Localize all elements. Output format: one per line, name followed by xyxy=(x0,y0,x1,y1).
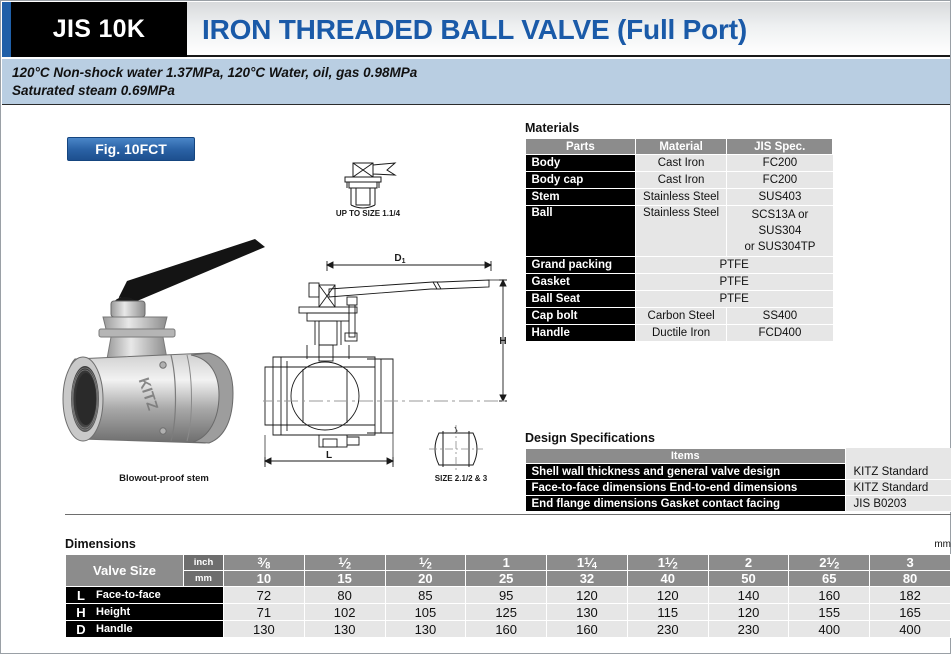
unit-row-mm: mm xyxy=(184,571,224,587)
size-inch-7: 21⁄2 xyxy=(789,555,870,571)
material-name: Carbon Steel xyxy=(635,308,727,325)
materials-header-row: Parts Material JIS Spec. xyxy=(526,139,833,155)
ratings-band: 120°C Non-shock water 1.37MPa, 120°C Wat… xyxy=(2,59,950,105)
material-name: Stainless Steel xyxy=(635,189,727,206)
table-row: Handle Ductile Iron FCD400 xyxy=(526,325,833,342)
material-part: Cap bolt xyxy=(526,308,636,325)
handle-section-drawing xyxy=(421,425,491,473)
dimension-value: 105 xyxy=(385,604,466,621)
material-spec: SUS403 xyxy=(727,189,833,206)
dimension-value: 125 xyxy=(466,604,547,621)
material-spec: FC200 xyxy=(727,172,833,189)
dimension-name: Face-to-face xyxy=(96,589,161,601)
dimension-value: 71 xyxy=(224,604,305,621)
material-part: Handle xyxy=(526,325,636,342)
dimension-value: 120 xyxy=(708,604,789,621)
dimension-symbol: H xyxy=(66,605,96,620)
dimension-symbol: L xyxy=(66,588,96,603)
size-inch-6: 2 xyxy=(708,555,789,571)
figure-badge: Fig. 10FCT xyxy=(67,137,195,161)
design-spec-standard: KITZ Standard xyxy=(845,480,950,496)
dimension-label-l: L xyxy=(326,450,332,461)
dimension-value: 230 xyxy=(627,621,708,638)
size-inch-2: 1⁄2 xyxy=(385,555,466,571)
table-row: L Face-to-face 72 80 85 95 120 120 140 1… xyxy=(66,587,951,604)
design-specs-section: Design Specifications Items Shell wall t… xyxy=(525,431,951,512)
size-mm-2: 20 xyxy=(385,571,466,587)
page-title: IRON THREADED BALL VALVE (Full Port) xyxy=(202,2,747,57)
dimension-value: 72 xyxy=(224,587,305,604)
materials-col-material: Material xyxy=(635,139,727,155)
stem-detail-caption: UP TO SIZE 1.1/4 xyxy=(293,209,443,218)
valve-size-header: Valve Size xyxy=(66,555,184,587)
materials-title: Materials xyxy=(525,121,833,135)
size-inch-8: 3 xyxy=(870,555,951,571)
material-name: Ductile Iron xyxy=(635,325,727,342)
handle-section-caption: SIZE 2.1/2 & 3 xyxy=(401,474,521,483)
table-row: H Height 71 102 105 125 130 115 120 155 … xyxy=(66,604,951,621)
valve-photo: KITZ xyxy=(59,233,269,458)
dimension-value: 165 xyxy=(870,604,951,621)
dimension-label-d1: D1 xyxy=(394,253,405,265)
material-name: Cast Iron xyxy=(635,172,727,189)
dimension-name: Handle xyxy=(96,623,133,635)
design-specs-col-blank xyxy=(845,449,950,464)
dimension-row-label-h: H Height xyxy=(66,604,224,621)
standard-badge-label: JIS 10K xyxy=(53,15,145,44)
dimension-value: 140 xyxy=(708,587,789,604)
figure-badge-label: Fig. 10FCT xyxy=(95,141,167,157)
dimension-value: 130 xyxy=(385,621,466,638)
material-part: Body cap xyxy=(526,172,636,189)
dimension-value: 160 xyxy=(466,621,547,638)
design-specs-header-row: Items xyxy=(526,449,951,464)
datasheet-page: JIS 10K IRON THREADED BALL VALVE (Full P… xyxy=(0,0,951,654)
size-mm-1: 15 xyxy=(304,571,385,587)
dimension-value: 102 xyxy=(304,604,385,621)
material-spec-line-1: SCS13A or SUS304 xyxy=(729,207,830,239)
design-spec-item: Face-to-face dimensions End-to-end dimen… xyxy=(526,480,846,496)
dimension-value: 230 xyxy=(708,621,789,638)
table-row: Grand packing PTFE xyxy=(526,257,833,274)
page-header: JIS 10K IRON THREADED BALL VALVE (Full P… xyxy=(2,2,950,57)
dimensions-inch-row: Valve Size inch 3⁄8 1⁄2 1⁄2 1 11⁄4 11⁄2 … xyxy=(66,555,951,571)
material-spec-line-2: or SUS304TP xyxy=(729,239,830,255)
table-row: Face-to-face dimensions End-to-end dimen… xyxy=(526,480,951,496)
size-inch-3: 1 xyxy=(466,555,547,571)
design-spec-item: Shell wall thickness and general valve d… xyxy=(526,464,846,480)
page-title-text: IRON THREADED BALL VALVE (Full Port) xyxy=(202,14,747,46)
dimension-value: 400 xyxy=(870,621,951,638)
material-spec: FC200 xyxy=(727,155,833,172)
table-row: Body Cast Iron FC200 xyxy=(526,155,833,172)
material-name: Stainless Steel xyxy=(635,206,727,257)
dimension-value: 182 xyxy=(870,587,951,604)
table-row: End flange dimensions Gasket contact fac… xyxy=(526,496,951,512)
table-row: Gasket PTFE xyxy=(526,274,833,291)
material-part: Ball Seat xyxy=(526,291,636,308)
material-part: Gasket xyxy=(526,274,636,291)
size-mm-5: 40 xyxy=(627,571,708,587)
size-mm-3: 25 xyxy=(466,571,547,587)
rating-line-1: 120°C Non-shock water 1.37MPa, 120°C Wat… xyxy=(12,64,950,82)
material-name: PTFE xyxy=(635,257,832,274)
materials-section: Materials Parts Material JIS Spec. Body … xyxy=(525,121,833,342)
size-mm-7: 65 xyxy=(789,571,870,587)
size-inch-5: 11⁄2 xyxy=(627,555,708,571)
table-row: D Handle 130 130 130 160 160 230 230 400… xyxy=(66,621,951,638)
dimension-row-label-l: L Face-to-face xyxy=(66,587,224,604)
dimensions-table: Valve Size inch 3⁄8 1⁄2 1⁄2 1 11⁄4 11⁄2 … xyxy=(65,554,951,638)
table-row: Ball Stainless Steel SCS13A or SUS304 or… xyxy=(526,206,833,257)
dimension-value: 130 xyxy=(224,621,305,638)
material-spec: SCS13A or SUS304 or SUS304TP xyxy=(727,206,833,257)
material-part: Stem xyxy=(526,189,636,206)
material-spec: SS400 xyxy=(727,308,833,325)
table-row: Cap bolt Carbon Steel SS400 xyxy=(526,308,833,325)
material-part: Ball xyxy=(526,206,636,257)
materials-table: Parts Material JIS Spec. Body Cast Iron … xyxy=(525,138,833,342)
dimension-value: 115 xyxy=(627,604,708,621)
material-name: PTFE xyxy=(635,291,832,308)
size-inch-1: 1⁄2 xyxy=(304,555,385,571)
size-mm-4: 32 xyxy=(547,571,628,587)
design-spec-standard: KITZ Standard xyxy=(845,464,950,480)
size-mm-6: 50 xyxy=(708,571,789,587)
dimension-value: 160 xyxy=(547,621,628,638)
size-mm-0: 10 xyxy=(224,571,305,587)
table-row: Ball Seat PTFE xyxy=(526,291,833,308)
material-spec: FCD400 xyxy=(727,325,833,342)
section-divider xyxy=(65,514,951,515)
table-row: Stem Stainless Steel SUS403 xyxy=(526,189,833,206)
dimension-symbol: D xyxy=(66,622,96,637)
header-accent-stripe xyxy=(2,2,11,57)
dimension-value: 155 xyxy=(789,604,870,621)
dimensions-title: Dimensions xyxy=(65,537,951,551)
dimension-value: 80 xyxy=(304,587,385,604)
dimensions-mm-row: mm 10 15 20 25 32 40 50 65 80 xyxy=(66,571,951,587)
table-row: Shell wall thickness and general valve d… xyxy=(526,464,951,480)
standard-badge: JIS 10K xyxy=(11,2,187,57)
material-name: PTFE xyxy=(635,274,832,291)
dimension-value: 160 xyxy=(789,587,870,604)
materials-col-parts: Parts xyxy=(526,139,636,155)
dimension-value: 95 xyxy=(466,587,547,604)
dimension-value: 130 xyxy=(304,621,385,638)
design-spec-item: End flange dimensions Gasket contact fac… xyxy=(526,496,846,512)
size-inch-0: 3⁄8 xyxy=(224,555,305,571)
valve-photo-caption: Blowout-proof stem xyxy=(59,473,269,484)
rating-line-2: Saturated steam 0.69MPa xyxy=(12,82,950,100)
design-spec-standard: JIS B0203 xyxy=(845,496,950,512)
dimension-name: Height xyxy=(96,606,130,618)
material-part: Grand packing xyxy=(526,257,636,274)
design-specs-title: Design Specifications xyxy=(525,431,951,445)
unit-row-inch: inch xyxy=(184,555,224,571)
dimension-value: 120 xyxy=(627,587,708,604)
dimensions-section: Dimensions mm Valve Size inch 3⁄8 1⁄2 1⁄… xyxy=(65,537,951,638)
dimension-value: 120 xyxy=(547,587,628,604)
dimension-value: 400 xyxy=(789,621,870,638)
material-part: Body xyxy=(526,155,636,172)
dimension-value: 85 xyxy=(385,587,466,604)
size-mm-8: 80 xyxy=(870,571,951,587)
table-row: Body cap Cast Iron FC200 xyxy=(526,172,833,189)
size-inch-4: 11⁄4 xyxy=(547,555,628,571)
dimension-value: 130 xyxy=(547,604,628,621)
dimension-row-label-d: D Handle xyxy=(66,621,224,638)
design-specs-col-items: Items xyxy=(526,449,846,464)
dimensions-unit-label: mm xyxy=(934,539,951,550)
dimension-label-h: H xyxy=(499,336,506,347)
materials-col-spec: JIS Spec. xyxy=(727,139,833,155)
design-specs-table: Items Shell wall thickness and general v… xyxy=(525,448,951,512)
stem-detail-drawing xyxy=(323,159,413,214)
material-name: Cast Iron xyxy=(635,155,727,172)
